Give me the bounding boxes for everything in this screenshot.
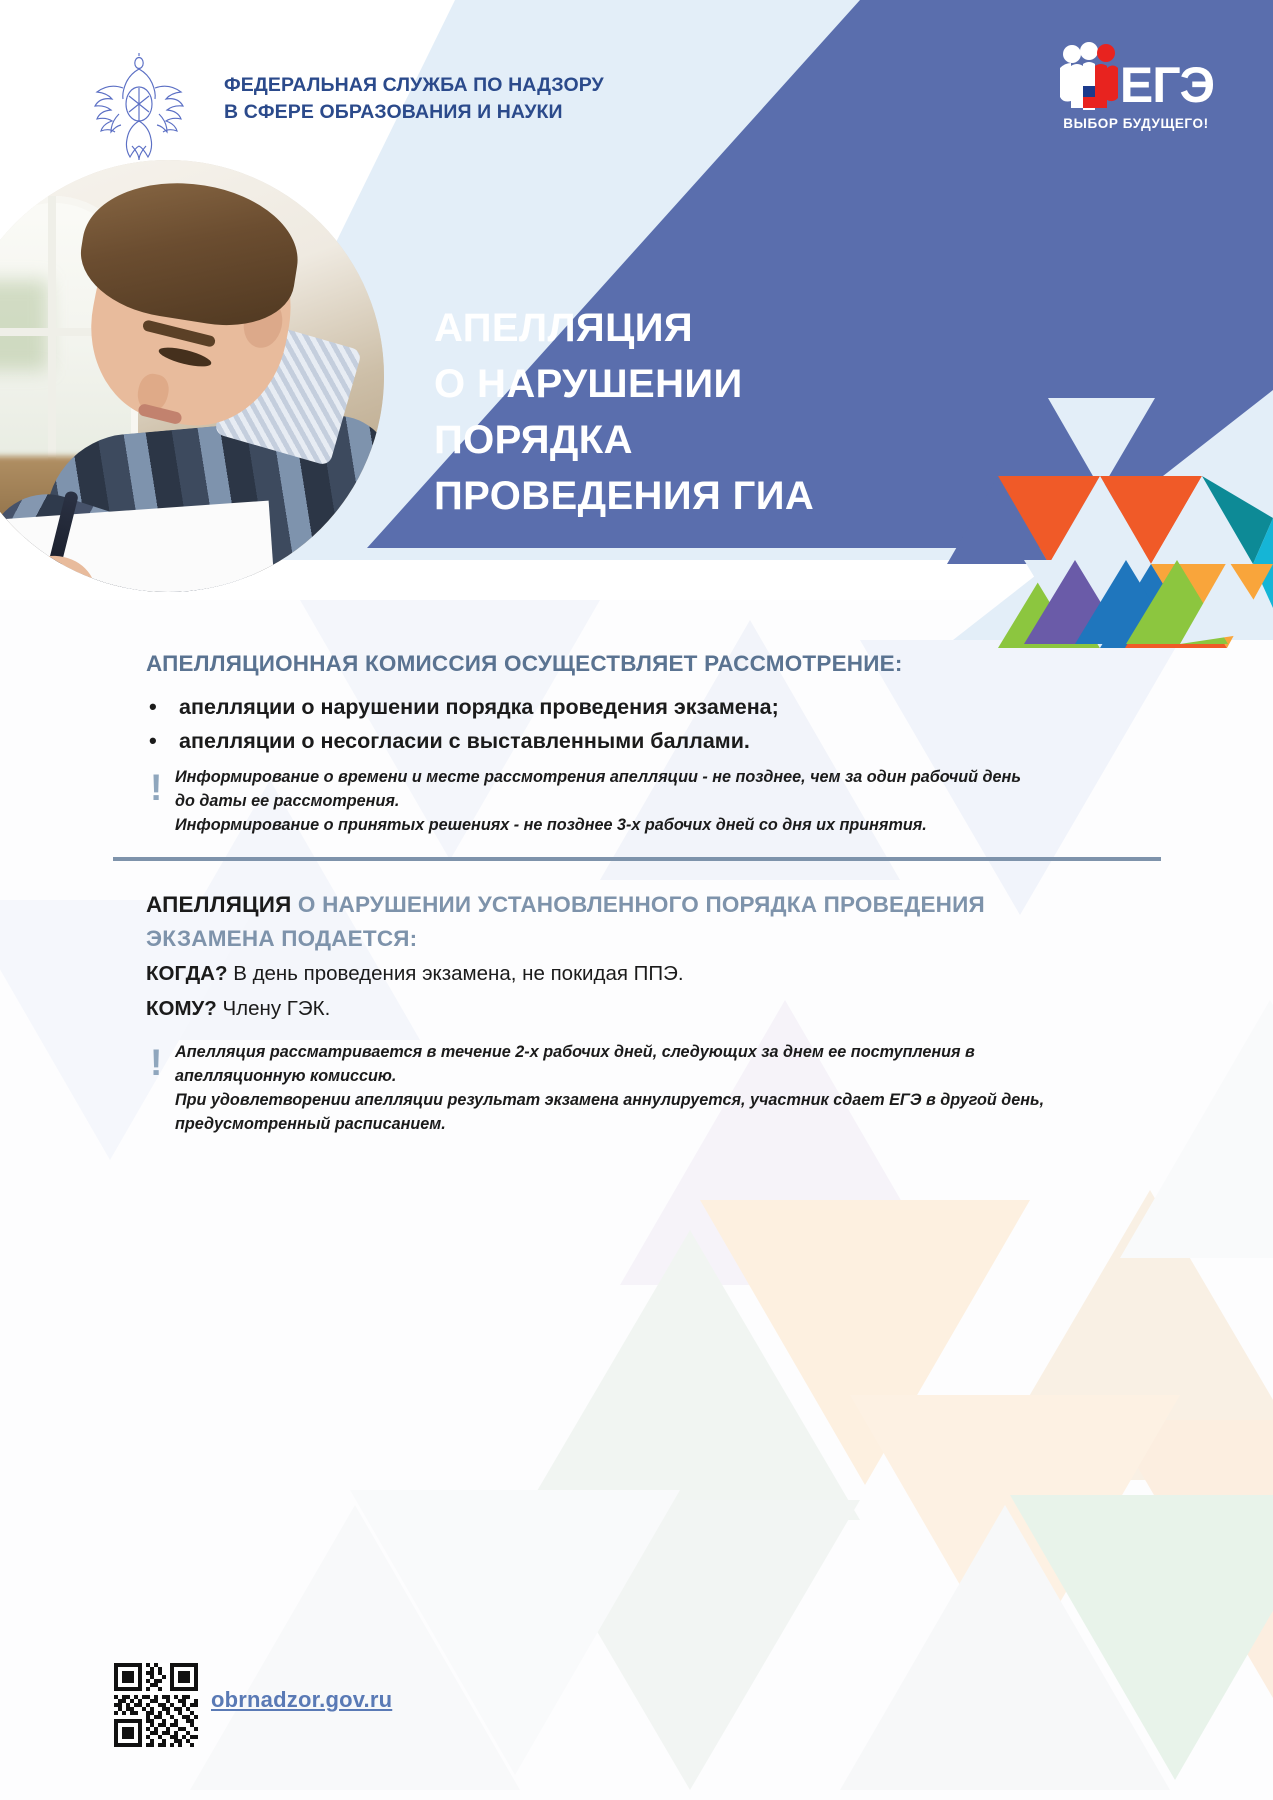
ege-logo: ЕГЭ ВЫБОР БУДУЩЕГО! xyxy=(1051,38,1221,131)
section2-note-line2: При удовлетворении апелляции результат э… xyxy=(175,1088,1045,1136)
section2-qa-when-label: КОГДА? xyxy=(146,962,228,985)
watermark-triangle xyxy=(520,1230,860,1520)
photo-foliage xyxy=(0,280,48,370)
section2-qa-whom-label: КОМУ? xyxy=(146,997,217,1020)
list-item: • апелляции о нарушении порядка проведен… xyxy=(143,695,1043,720)
ege-tagline: ВЫБОР БУДУЩЕГО! xyxy=(1051,116,1221,131)
poster-root: ФЕДЕРАЛЬНАЯ СЛУЖБА ПО НАДЗОРУ В СФЕРЕ ОБ… xyxy=(0,0,1273,1800)
student-photo xyxy=(0,160,384,592)
qr-code-svg xyxy=(114,1663,198,1747)
eagle-emblem-svg xyxy=(93,52,185,162)
section1-note-line2: Информирование о принятых решениях - не … xyxy=(175,813,1045,837)
section2-note: ! Апелляция рассматривается в течение 2-… xyxy=(145,1040,1045,1136)
website-link[interactable]: obrnadzor.gov.ru xyxy=(211,1687,392,1713)
list-item-label: апелляции о нарушении порядка проведения… xyxy=(179,695,779,720)
section2-note-line1: Апелляция рассматривается в течение 2-х … xyxy=(175,1040,1045,1088)
agency-name-line1: ФЕДЕРАЛЬНАЯ СЛУЖБА ПО НАДЗОРУ xyxy=(224,72,604,99)
list-item-label: апелляции о несогласии с выставленными б… xyxy=(179,729,750,754)
page-title-line1: АПЕЛЛЯЦИЯ xyxy=(434,300,814,356)
exclamation-icon: ! xyxy=(145,765,175,803)
bullet-dot-icon: • xyxy=(143,730,179,752)
page-title: АПЕЛЛЯЦИЯ О НАРУШЕНИИ ПОРЯДКА ПРОВЕДЕНИЯ… xyxy=(434,300,814,524)
section1-heading: АПЕЛЛЯЦИОННАЯ КОМИССИЯ ОСУЩЕСТВЛЯЕТ РАСС… xyxy=(146,651,903,677)
ege-figures-icon xyxy=(1058,42,1120,110)
section1-bullet-list: • апелляции о нарушении порядка проведен… xyxy=(143,695,1043,763)
agency-name-line2: В СФЕРЕ ОБРАЗОВАНИЯ И НАУКИ xyxy=(224,99,604,126)
photo-window-bar xyxy=(48,196,56,464)
rosobrnadzor-emblem-icon xyxy=(93,52,185,162)
triangle-row-svg xyxy=(940,560,1273,650)
bullet-dot-icon: • xyxy=(143,696,179,718)
page-title-line4: ПРОВЕДЕНИЯ ГИА xyxy=(434,468,814,524)
list-item: • апелляции о несогласии с выставленными… xyxy=(143,729,1043,754)
watermark-triangle xyxy=(1120,1000,1273,1258)
section1-note-line1: Информирование о времени и месте рассмот… xyxy=(175,765,1045,813)
ege-wordmark: ЕГЭ xyxy=(1120,60,1214,110)
watermark-triangle xyxy=(350,1490,680,1775)
section1-note: ! Информирование о времени и месте рассм… xyxy=(145,765,1045,837)
section2-note-body: Апелляция рассматривается в течение 2-х … xyxy=(175,1040,1045,1136)
section2-qa-when: КОГДА? В день проведения экзамена, не по… xyxy=(146,962,684,986)
ege-logo-row: ЕГЭ xyxy=(1051,38,1221,110)
agency-name: ФЕДЕРАЛЬНАЯ СЛУЖБА ПО НАДЗОРУ В СФЕРЕ ОБ… xyxy=(224,72,604,126)
section2-heading: АПЕЛЛЯЦИЯ О НАРУШЕНИИ УСТАНОВЛЕННОГО ПОР… xyxy=(146,888,1026,956)
exclamation-icon: ! xyxy=(145,1040,175,1078)
watermark-triangle xyxy=(840,1505,1170,1790)
page-title-line2: О НАРУШЕНИИ xyxy=(434,356,814,412)
section2-qa-whom-value: Члену ГЭК. xyxy=(223,997,331,1020)
section-divider xyxy=(113,857,1161,861)
section2-qa-when-value: В день проведения экзамена, не покидая П… xyxy=(233,962,683,985)
qr-code-icon[interactable] xyxy=(114,1663,198,1747)
section1-note-body: Информирование о времени и месте рассмот… xyxy=(175,765,1045,837)
decorative-triangle-row xyxy=(940,560,1273,650)
section2-qa-whom: КОМУ? Члену ГЭК. xyxy=(146,997,330,1021)
section2-heading-bold: АПЕЛЛЯЦИЯ xyxy=(146,892,291,917)
page-title-line3: ПОРЯДКА xyxy=(434,412,814,468)
